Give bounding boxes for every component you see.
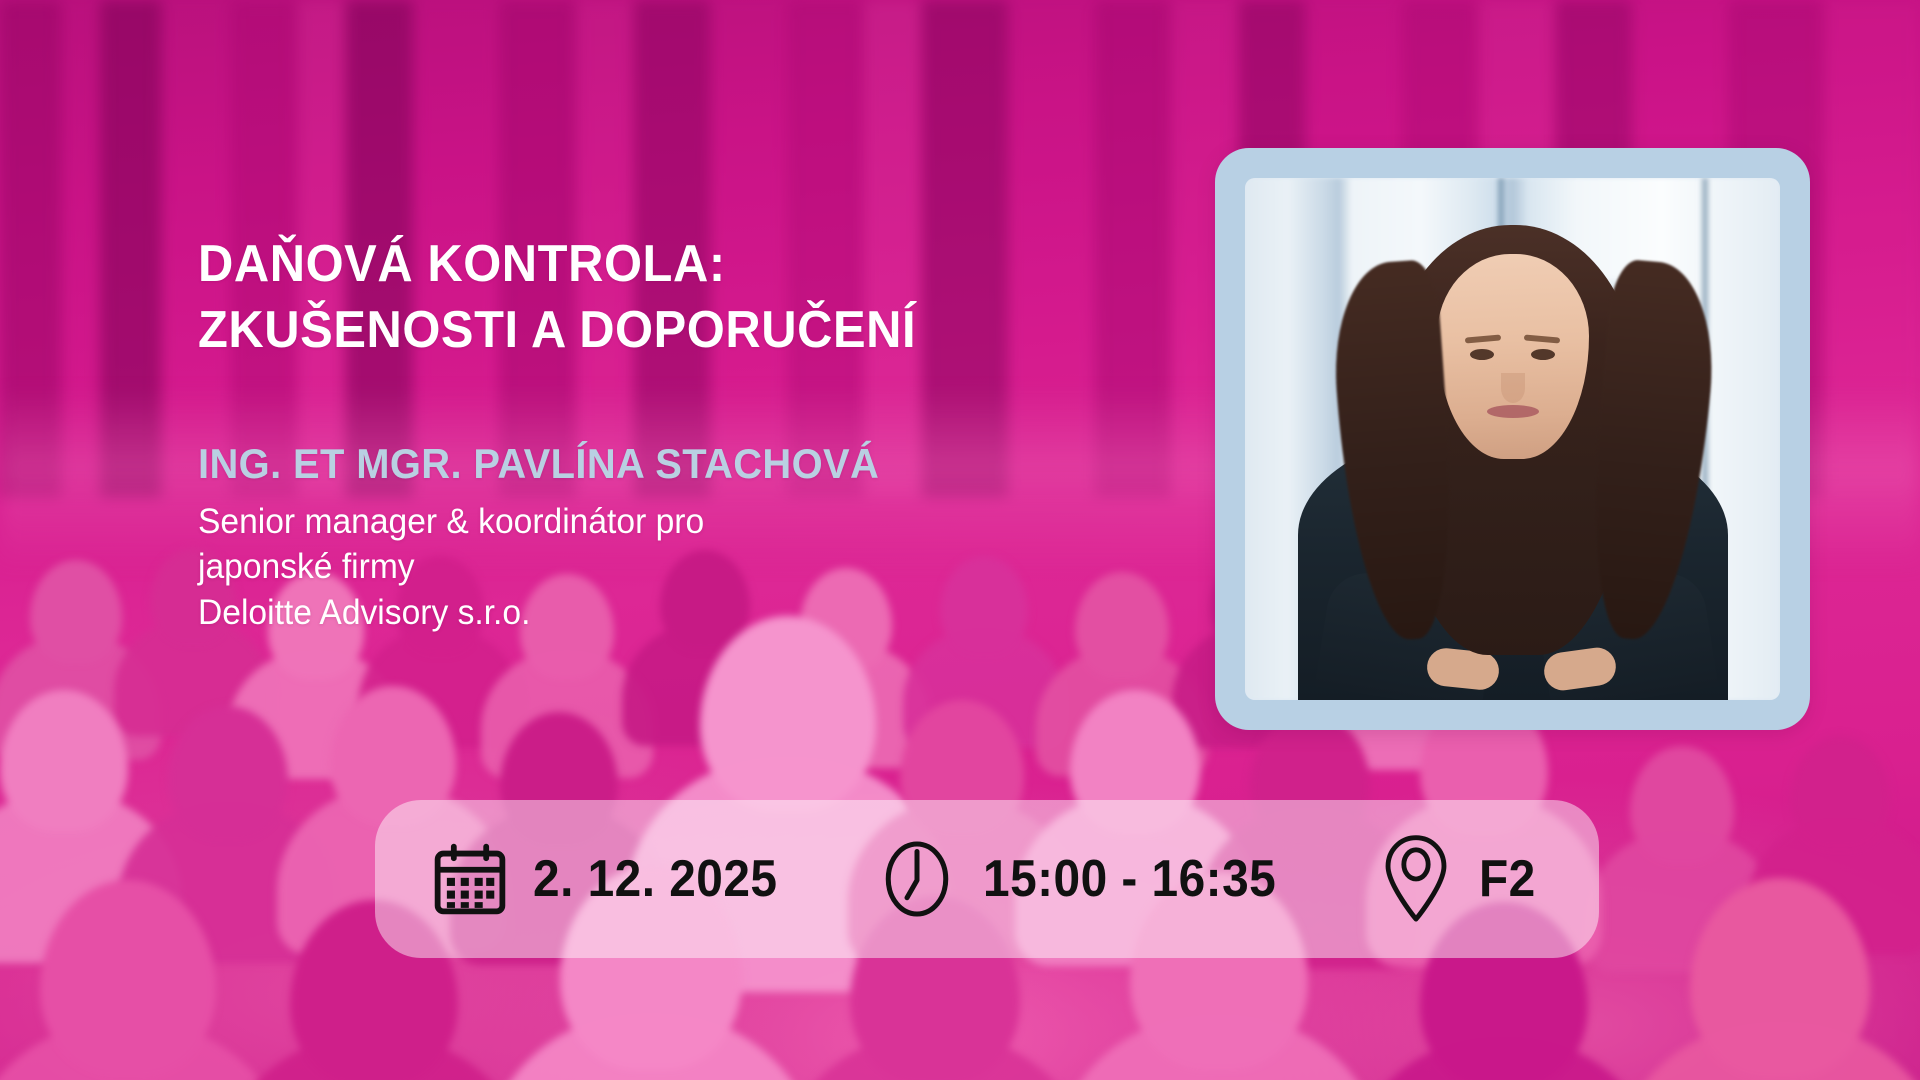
speaker-name: ING. ET MGR. PAVLÍNA STACHOVÁ xyxy=(198,441,1129,487)
photo-eye-right xyxy=(1531,349,1555,360)
event-room: F2 xyxy=(1479,853,1536,905)
info-item-location: F2 xyxy=(1379,834,1541,924)
calendar-icon xyxy=(433,842,507,916)
photo-nose xyxy=(1501,373,1525,403)
speaker-role-line-1: Senior manager & koordinátor pro xyxy=(198,499,1139,544)
event-date: 2. 12. 2025 xyxy=(533,853,777,905)
speaker-role-line-3: Deloitte Advisory s.r.o. xyxy=(198,590,1139,635)
event-title: DAŇOVÁ KONTROLA: ZKUŠENOSTI A DOPORUČENÍ xyxy=(198,232,1119,363)
photo-mouth xyxy=(1487,405,1539,418)
audience-head xyxy=(30,560,122,664)
event-info-bar: 2. 12. 2025 15:00 - 16:35 F2 xyxy=(375,800,1599,958)
info-item-time: 15:00 - 16:35 xyxy=(877,839,1302,919)
photo-face xyxy=(1437,254,1589,459)
speaker-photo-frame xyxy=(1215,148,1810,730)
info-item-date: 2. 12. 2025 xyxy=(433,842,799,916)
text-column: DAŇOVÁ KONTROLA: ZKUŠENOSTI A DOPORUČENÍ… xyxy=(198,232,1178,635)
audience-head xyxy=(1790,736,1890,850)
photo-eyebrow-right xyxy=(1523,334,1559,343)
event-banner: DAŇOVÁ KONTROLA: ZKUŠENOSTI A DOPORUČENÍ… xyxy=(0,0,1920,1080)
speaker-photo-image xyxy=(1245,178,1780,700)
photo-eyebrow-left xyxy=(1465,334,1501,343)
speaker-role: Senior manager & koordinátor pro japonsk… xyxy=(198,499,1139,634)
location-pin-icon xyxy=(1379,834,1453,924)
speaker-block: ING. ET MGR. PAVLÍNA STACHOVÁ Senior man… xyxy=(198,441,1178,635)
event-title-line-1: DAŇOVÁ KONTROLA: xyxy=(198,232,1119,298)
speaker-role-line-2: japonské firmy xyxy=(198,544,1139,589)
audience-head xyxy=(1630,746,1734,864)
speaker-photo xyxy=(1245,178,1780,700)
clock-icon xyxy=(877,839,957,919)
event-title-line-2: ZKUŠENOSTI A DOPORUČENÍ xyxy=(198,298,1119,364)
photo-eye-left xyxy=(1470,349,1494,360)
event-time: 15:00 - 16:35 xyxy=(983,853,1276,905)
